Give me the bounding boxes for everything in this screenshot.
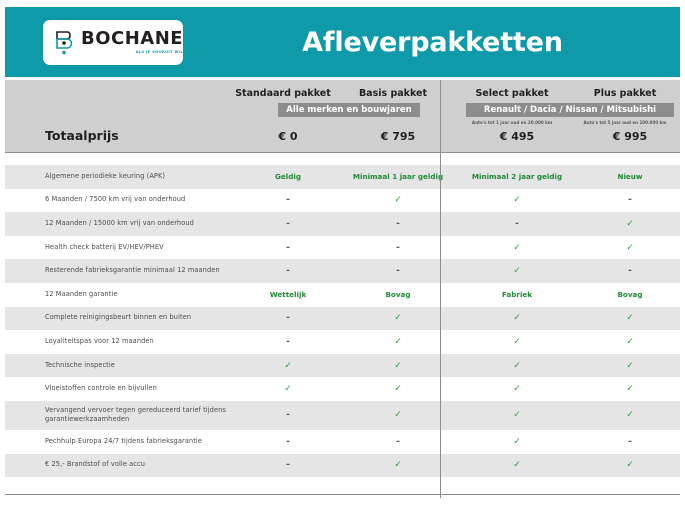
row-label: 6 Maanden / 7500 km vrij van onderhoud — [45, 189, 235, 213]
row-label: Vloeistoffen controle en bijvullen — [45, 377, 235, 401]
row-cell: - — [238, 430, 338, 454]
row-cell: - — [580, 430, 680, 454]
row-cell: ✓ — [580, 401, 680, 430]
row-cell: - — [238, 454, 338, 478]
table-row: 12 Maanden garantieWettelijkBovagFabriek… — [5, 283, 680, 307]
row-label: € 25,- Brandstof of volle accu — [45, 454, 235, 478]
row-cell: ✓ — [467, 401, 567, 430]
table-row: Algemene periodieke keuring (APK)GeldigM… — [5, 165, 680, 189]
total-price-label: Totaalprijs — [45, 128, 119, 143]
row-cell: ✓ — [348, 377, 448, 401]
row-cell: ✓ — [238, 377, 338, 401]
row-cell: - — [238, 401, 338, 430]
scope-band-brands: Renault / Dacia / Nissan / Mitsubishi — [466, 103, 674, 117]
bochane-b-mark-icon — [55, 30, 75, 56]
row-cell: Wettelijk — [238, 283, 338, 307]
row-cell: - — [467, 212, 567, 236]
total-price-row: Totaalprijs € 0 € 795 € 495 € 995 — [5, 125, 680, 152]
row-cell: ✓ — [348, 354, 448, 378]
column-header-select: Select pakket — [462, 88, 562, 99]
row-label: 12 Maanden / 15000 km vrij van onderhoud — [45, 212, 235, 236]
company-logo: BOCHANE ALS JE VOORUIT WIL — [43, 20, 183, 65]
table-row: 6 Maanden / 7500 km vrij van onderhoud-✓… — [5, 189, 680, 213]
row-cell: - — [348, 236, 448, 260]
row-cell: Geldig — [238, 165, 338, 189]
row-label: Pechhulp Europa 24/7 tijdens fabrieksgar… — [45, 430, 235, 454]
comparison-sheet: BOCHANE ALS JE VOORUIT WIL Afleverpakket… — [0, 0, 685, 514]
column-header-basis: Basis pakket — [343, 88, 443, 99]
row-cell: ✓ — [467, 307, 567, 331]
table-row: Vervangend vervoer tegen gereduceerd tar… — [5, 401, 680, 430]
row-cell: Minimaal 1 jaar geldig — [348, 165, 448, 189]
total-price-plus: € 995 — [580, 130, 680, 143]
table-row: 12 Maanden / 15000 km vrij van onderhoud… — [5, 212, 680, 236]
row-label: Algemene periodieke keuring (APK) — [45, 165, 235, 189]
row-cell: ✓ — [580, 454, 680, 478]
row-cell: ✓ — [467, 236, 567, 260]
row-cell: - — [348, 259, 448, 283]
row-cell: ✓ — [348, 401, 448, 430]
row-cell: ✓ — [467, 259, 567, 283]
row-cell: ✓ — [580, 354, 680, 378]
row-cell: ✓ — [348, 189, 448, 213]
row-cell: Minimaal 2 jaar geldig — [467, 165, 567, 189]
row-cell: - — [348, 430, 448, 454]
logo-wordmark: BOCHANE — [81, 30, 183, 48]
total-price-standaard: € 0 — [238, 130, 338, 143]
column-header-standaard: Standaard pakket — [233, 88, 333, 99]
row-label: Loyaliteitspas voor 12 maanden — [45, 330, 235, 354]
row-label: Resterende fabrieksgarantie minimaal 12 … — [45, 259, 235, 283]
feature-table: Algemene periodieke keuring (APK)GeldigM… — [5, 152, 680, 495]
page-banner: BOCHANE ALS JE VOORUIT WIL Afleverpakket… — [5, 7, 680, 77]
table-row: € 25,- Brandstof of volle accu-✓✓✓ — [5, 454, 680, 478]
table-row: Vloeistoffen controle en bijvullen✓✓✓✓ — [5, 377, 680, 401]
row-cell: - — [238, 189, 338, 213]
table-row: Technische inspectie✓✓✓✓ — [5, 354, 680, 378]
row-cell: - — [238, 307, 338, 331]
row-cell: Fabriek — [467, 283, 567, 307]
row-label: Complete reinigingsbeurt binnen en buite… — [45, 307, 235, 331]
row-cell: - — [238, 330, 338, 354]
total-price-basis: € 795 — [348, 130, 448, 143]
row-cell: ✓ — [348, 330, 448, 354]
row-cell: ✓ — [580, 330, 680, 354]
row-cell: Nieuw — [580, 165, 680, 189]
row-label: Health check batterij EV/HEV/PHEV — [45, 236, 235, 260]
table-top-spacer — [5, 153, 680, 165]
row-cell: - — [238, 259, 338, 283]
page-title: Afleverpakketten — [195, 7, 670, 77]
row-cell: ✓ — [580, 236, 680, 260]
row-cell: - — [580, 259, 680, 283]
row-cell: ✓ — [467, 330, 567, 354]
table-row: Pechhulp Europa 24/7 tijdens fabrieksgar… — [5, 430, 680, 454]
scope-band-all-brands: Alle merken en bouwjaren — [278, 103, 420, 117]
table-row: Resterende fabrieksgarantie minimaal 12 … — [5, 259, 680, 283]
row-cell: ✓ — [238, 354, 338, 378]
logo-tagline: ALS JE VOORUIT WIL — [81, 51, 183, 55]
row-cell: Bovag — [348, 283, 448, 307]
column-header-plus: Plus pakket — [575, 88, 675, 99]
table-bottom-spacer — [5, 477, 680, 494]
row-cell: Bovag — [580, 283, 680, 307]
row-cell: ✓ — [467, 189, 567, 213]
table-row: Loyaliteitspas voor 12 maanden-✓✓✓ — [5, 330, 680, 354]
row-cell: ✓ — [467, 430, 567, 454]
row-cell: ✓ — [580, 212, 680, 236]
row-cell: ✓ — [580, 377, 680, 401]
row-cell: - — [238, 236, 338, 260]
table-row: Health check batterij EV/HEV/PHEV--✓✓ — [5, 236, 680, 260]
row-label: Vervangend vervoer tegen gereduceerd tar… — [45, 401, 235, 430]
row-label: 12 Maanden garantie — [45, 283, 235, 307]
row-cell: ✓ — [348, 454, 448, 478]
row-cell: ✓ — [467, 454, 567, 478]
row-cell: ✓ — [467, 377, 567, 401]
row-cell: - — [238, 212, 338, 236]
row-cell: ✓ — [348, 307, 448, 331]
row-cell: ✓ — [580, 307, 680, 331]
table-row: Complete reinigingsbeurt binnen en buite… — [5, 307, 680, 331]
row-cell: - — [580, 189, 680, 213]
row-cell: ✓ — [467, 354, 567, 378]
row-cell: - — [348, 212, 448, 236]
total-price-select: € 495 — [467, 130, 567, 143]
row-label: Technische inspectie — [45, 354, 235, 378]
